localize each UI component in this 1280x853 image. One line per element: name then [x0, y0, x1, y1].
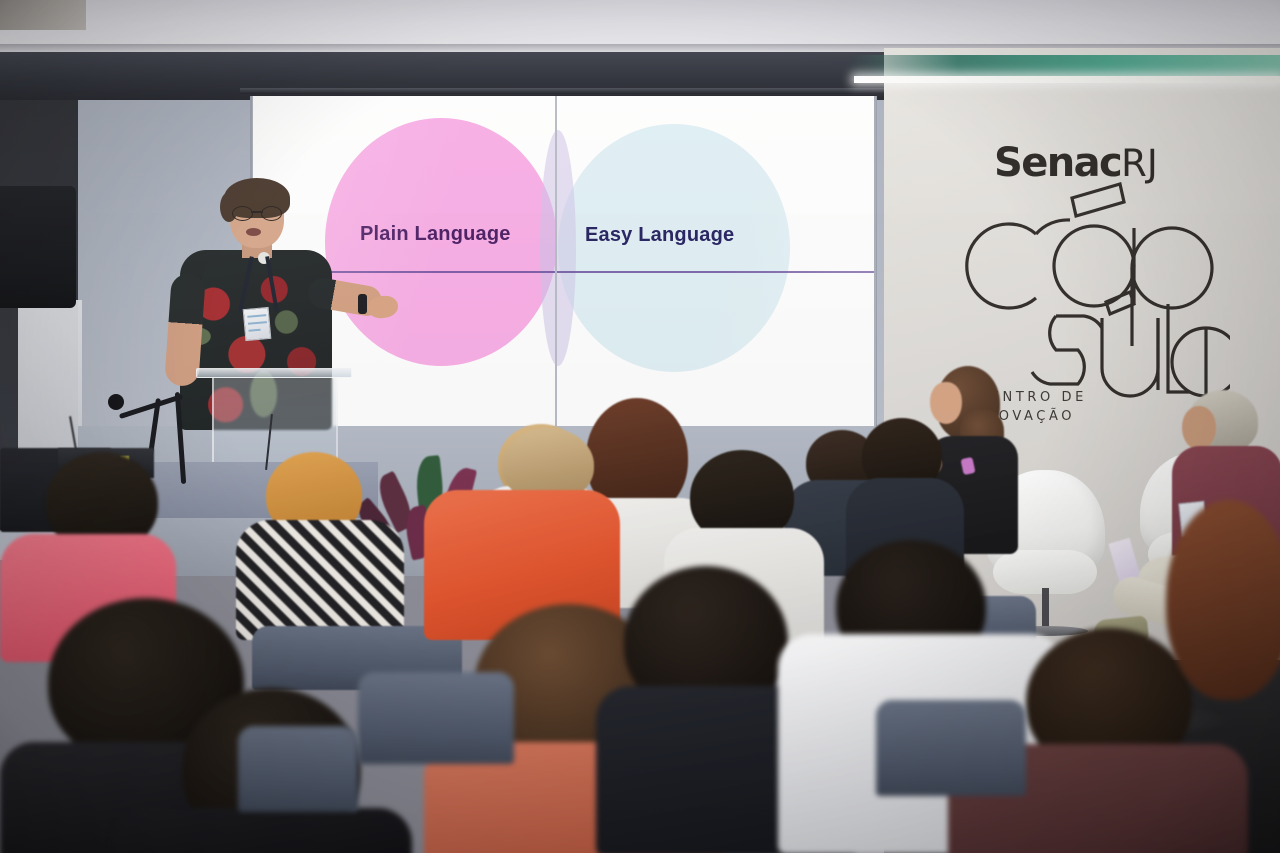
- person-torso: [236, 520, 404, 640]
- person-hair: [1166, 500, 1280, 700]
- badge-line: [248, 329, 260, 332]
- venn-circle-right: [558, 124, 790, 372]
- panelist-1-face: [930, 382, 962, 424]
- pa-loudspeaker: [0, 186, 76, 308]
- ceiling-corner-panel: [0, 0, 86, 30]
- wall-accent-band: [850, 55, 1280, 77]
- panelist-2-face: [1182, 406, 1216, 450]
- screen-right-edge: [874, 96, 877, 426]
- auditorium-seat: [238, 726, 358, 812]
- presenter-name-badge: [243, 307, 272, 341]
- person-torso: [112, 808, 412, 853]
- presenter-wristwatch: [358, 294, 367, 314]
- venn-overlap-region: [540, 130, 576, 366]
- slide-label-easy-language: Easy Language: [585, 224, 734, 247]
- soffit-edge: [240, 88, 890, 94]
- badge-line: [248, 321, 267, 325]
- screen-panel-seam: [555, 96, 557, 426]
- auditorium-seat: [876, 700, 1026, 796]
- ceiling-light-strip: [854, 76, 1280, 83]
- presenter-eyeglasses-bridge: [251, 211, 263, 213]
- presenter-mouth: [246, 228, 261, 236]
- slide-label-plain-language: Plain Language: [360, 223, 511, 246]
- chair-stem: [1042, 588, 1049, 630]
- acrylic-lectern-top: [196, 368, 352, 378]
- badge-line: [247, 314, 266, 318]
- conference-photo-scene: Plain Language Easy Language SenacRJ: [0, 0, 1280, 853]
- microphone-head-icon: [108, 394, 124, 410]
- auditorium-seat: [358, 672, 514, 764]
